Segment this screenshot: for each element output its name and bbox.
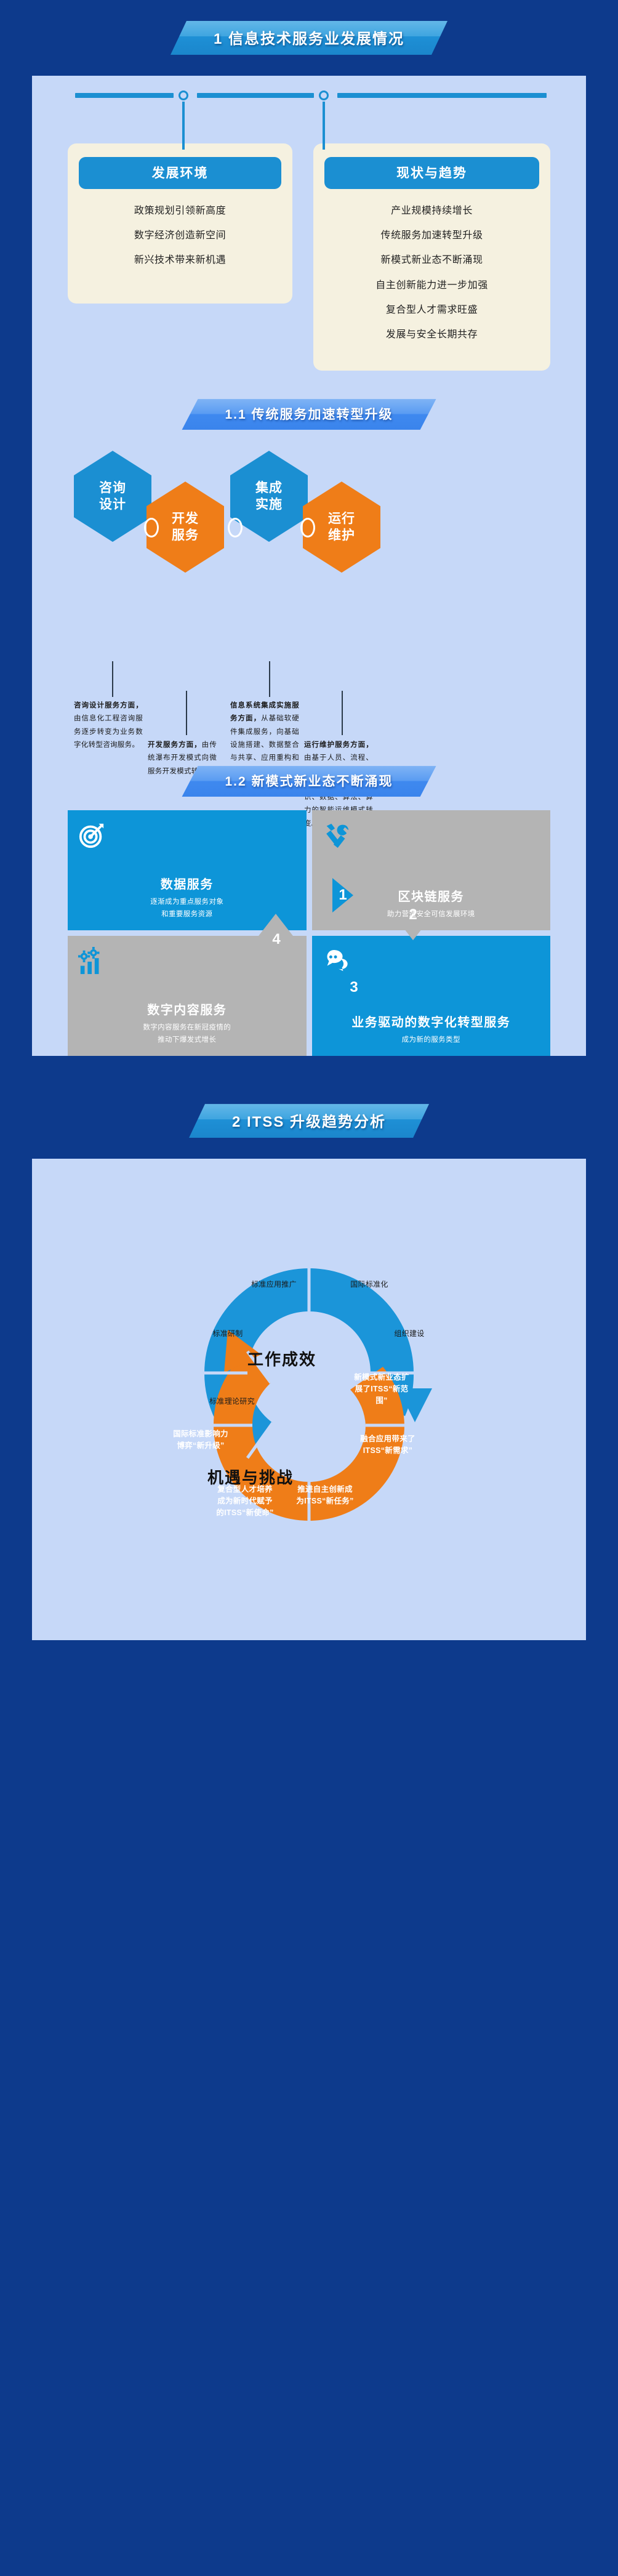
list-item: 复合型人才需求旺盛 <box>329 303 534 317</box>
description-stem <box>112 661 113 697</box>
hexagon-label-line1: 咨询 <box>99 480 126 496</box>
spacer-top <box>0 0 618 21</box>
infographic-page: 1 信息技术服务业发展情况 发展环境 政策规划引领新高度 数字经济创造新空间 新… <box>0 0 618 1665</box>
quadrant-subtitle-line1: 成为新的服务类型 <box>322 1034 541 1047</box>
description-stem <box>186 691 187 735</box>
section2-banner: 2 ITSS 升级趋势分析 <box>189 1104 429 1138</box>
section11-banner-wrap: 1.1 传统服务加速转型升级 <box>32 399 586 430</box>
section1-panel: 发展环境 政策规划引领新高度 数字经济创造新空间 新兴技术带来新机遇 现状与趋势… <box>32 76 586 1056</box>
description-stem <box>269 661 270 697</box>
connector-bar-left <box>75 93 174 98</box>
segment-label-new-mission: 复合型人才培养成为新时代赋予的ITSS“新使命” <box>215 1484 275 1518</box>
quadrant-grid: 数据服务 逐渐成为重点服务对象 和重要服务资源 区块链服务 助力营造安全可信发展… <box>68 810 550 1056</box>
hexagon-label-line2: 设计 <box>99 496 126 513</box>
hexagon-label-line1: 运行 <box>328 510 355 527</box>
card-title: 发展环境 <box>79 157 281 189</box>
itss-circular-svg <box>63 1176 555 1607</box>
quadrant-body: 数据服务 逐渐成为重点服务对象 和重要服务资源 <box>78 874 297 920</box>
list-item: 新兴技术带来新机遇 <box>84 253 276 267</box>
quadrant-subtitle-line1: 助力营造安全可信发展环境 <box>322 909 541 921</box>
hexagon-label-line2: 服务 <box>172 527 199 544</box>
segment-label-new-scope: 新模式新业态扩展了ITSS“新范围” <box>352 1372 411 1406</box>
description-lead: 开发服务方面， <box>148 741 202 749</box>
chart-gear-icon <box>78 947 106 975</box>
quadrant-title: 数据服务 <box>78 874 297 892</box>
section2-banner-wrap: 2 ITSS 升级趋势分析 <box>0 1104 618 1138</box>
hexagon-label-line2: 维护 <box>328 527 355 544</box>
tools-icon <box>322 821 350 850</box>
connector-line-2 <box>323 102 325 150</box>
description-stem <box>342 691 343 735</box>
list-item: 政策规划引领新高度 <box>84 204 276 218</box>
connector-bar-right <box>337 93 547 98</box>
quadrant-body: 区块链服务 助力营造安全可信发展环境 <box>322 887 541 921</box>
hexagon-descriptions: 咨询设计服务方面，由信息化工程咨询服务逐步转变为业务数字化转型咨询服务。 开发服… <box>32 569 586 766</box>
itss-trend-diagram: 工作成效 机遇与挑战 标准应用推广 国际标准化 标准研制 组织建设 标准理论研究… <box>63 1176 555 1607</box>
quadrant-body: 业务驱动的数字化转型服务 成为新的服务类型 <box>322 1012 541 1047</box>
list-item: 新模式新业态不断涌现 <box>329 253 534 267</box>
quadrant-title: 数字内容服务 <box>78 1000 297 1018</box>
quadrant-number-1: 1 <box>335 887 351 904</box>
hexagon-consulting-design: 咨询 设计 <box>74 451 151 542</box>
connector-dot-1 <box>179 91 188 100</box>
hexagon-label-line2: 实施 <box>255 496 283 513</box>
list-item: 发展与安全长期共存 <box>329 328 534 342</box>
quadrant-digital-content-service: 数字内容服务 数字内容服务在新冠疫情的 推动下爆发式增长 <box>68 936 307 1056</box>
section12-banner: 1.2 新模式新业态不断涌现 <box>182 766 436 797</box>
quadrant-number-4: 4 <box>268 931 284 948</box>
spacer-2 <box>0 1083 618 1104</box>
ring-label-standard-development: 标准研制 <box>201 1329 254 1339</box>
segment-label-new-task: 推进自主创新成为ITSS“新任务” <box>295 1484 355 1507</box>
quadrant-title: 区块链服务 <box>322 887 541 904</box>
ring-label-standard-theory: 标准理论研究 <box>206 1396 259 1407</box>
quadrant-body: 数字内容服务 数字内容服务在新冠疫情的 推动下爆发式增长 <box>78 1000 297 1046</box>
section2-panel: 工作成效 机遇与挑战 标准应用推广 国际标准化 标准研制 组织建设 标准理论研究… <box>32 1159 586 1640</box>
hexagon-description-consulting: 咨询设计服务方面，由信息化工程咨询服务逐步转变为业务数字化转型咨询服务。 <box>74 699 143 752</box>
ring-label-organization-building: 组织建设 <box>383 1329 436 1339</box>
card-development-environment: 发展环境 政策规划引领新高度 数字经济创造新空间 新兴技术带来新机遇 <box>68 143 292 304</box>
quadrant-subtitle-line1: 数字内容服务在新冠疫情的 <box>78 1022 297 1034</box>
upper-center-label: 工作成效 <box>247 1347 316 1370</box>
section11-banner: 1.1 传统服务加速转型升级 <box>182 399 436 430</box>
quadrant-number-2: 2 <box>405 906 421 924</box>
connector-dot-2 <box>319 91 329 100</box>
spacer-3 <box>0 1138 618 1159</box>
hexagon-connector-ring-icon <box>144 518 159 537</box>
section1-banner-wrap: 1 信息技术服务业发展情况 <box>0 21 618 55</box>
section1-cards: 发展环境 政策规划引领新高度 数字经济创造新空间 新兴技术带来新机遇 现状与趋势… <box>32 143 586 399</box>
hexagon-label-line1: 开发 <box>172 510 199 527</box>
hexagon-connector-ring-icon <box>300 518 315 537</box>
quadrant-number-3: 3 <box>346 979 362 996</box>
target-icon <box>78 821 106 850</box>
section12-banner-wrap: 1.2 新模式新业态不断涌现 <box>32 766 586 797</box>
hexagon-connector-ring-icon <box>228 518 243 537</box>
hexagon-row: 咨询 设计 开发 服务 集成 实施 运行 维护 <box>32 446 586 569</box>
quadrant-subtitle-line1: 逐渐成为重点服务对象 <box>78 896 297 909</box>
quadrant-blockchain-service: 区块链服务 助力营造安全可信发展环境 <box>312 810 551 930</box>
ring-label-standard-application: 标准应用推广 <box>247 1279 300 1290</box>
card-title: 现状与趋势 <box>324 157 539 189</box>
quadrant-subtitle-line2: 和重要服务资源 <box>78 909 297 921</box>
list-item: 产业规模持续增长 <box>329 204 534 218</box>
list-item: 数字经济创造新空间 <box>84 228 276 243</box>
card-list: 产业规模持续增长 传统服务加速转型升级 新模式新业态不断涌现 自主创新能力进一步… <box>324 204 539 342</box>
description-lead: 咨询设计服务方面， <box>74 702 143 709</box>
description-rest: 由信息化工程咨询服务逐步转变为业务数字化转型咨询服务。 <box>74 715 143 749</box>
quadrant-title: 业务驱动的数字化转型服务 <box>322 1012 541 1030</box>
quadrant-subtitle-line2: 推动下爆发式增长 <box>78 1034 297 1047</box>
segment-label-new-upgrade: 国际标准影响力博弈“新升级” <box>171 1428 230 1452</box>
ring-label-international-standardization: 国际标准化 <box>343 1279 396 1290</box>
description-lead: 运行维护服务方面， <box>304 741 373 749</box>
connector-bar-middle <box>197 93 314 98</box>
card-list: 政策规划引领新高度 数字经济创造新空间 新兴技术带来新机遇 <box>79 204 281 268</box>
list-item: 传统服务加速转型升级 <box>329 228 534 243</box>
section1-connector <box>32 76 586 143</box>
chat-bubbles-icon <box>322 947 350 975</box>
spacer-1 <box>0 55 618 76</box>
quadrant-data-service: 数据服务 逐渐成为重点服务对象 和重要服务资源 <box>68 810 307 930</box>
section1-banner: 1 信息技术服务业发展情况 <box>171 21 447 55</box>
list-item: 自主创新能力进一步加强 <box>329 278 534 292</box>
segment-label-new-demand: 融合应用带来了ITSS“新需求” <box>358 1433 417 1457</box>
card-status-and-trends: 现状与趋势 产业规模持续增长 传统服务加速转型升级 新模式新业态不断涌现 自主创… <box>313 143 550 371</box>
hexagon-label-line1: 集成 <box>255 480 283 496</box>
connector-line-1 <box>182 102 185 150</box>
